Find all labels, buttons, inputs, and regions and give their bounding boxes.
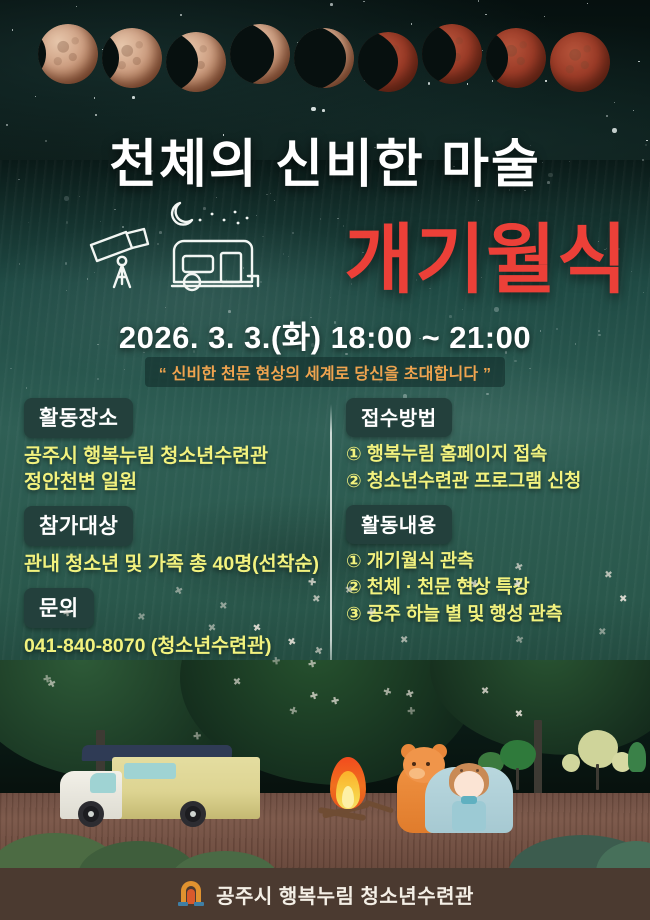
section-body-activity-content: ① 개기월식 관측② 천체 · 천문 현상 특강③ 공주 하늘 별 및 행성 관… [346,549,638,627]
star-dot [337,218,338,219]
star-dot [66,221,69,224]
girl-face [454,771,484,799]
van-cab-window [90,773,116,793]
star-dot [165,307,166,308]
section-line: 정안천변 일원 [24,469,324,495]
crescent-moon-icon [172,203,192,225]
girl-collar [461,796,477,804]
section-heading-participants: 참가대상 [24,506,133,546]
tagline: “ 신비한 천문 현상의 세계로 당신을 초대합니다 ” [145,357,505,387]
bear-eye-left [412,762,416,766]
girl-character [437,759,501,833]
moon-phase-strip [0,10,650,125]
section-body-participants: 관내 청소년 및 가족 총 40명(선착순) [24,551,324,577]
info-column-right: 접수방법① 행복누림 홈페이지 접속② 청소년수련관 프로그램 신청활동내용① … [346,398,638,638]
tree-trunk-right [534,720,542,798]
van-side-window [124,763,176,779]
moon-shadow [38,24,46,84]
section-body-inquiry: 041-840-8070 (청소년수련관) [24,633,324,659]
moon-phase-last-quarter [166,32,226,92]
section-body-activity-place: 공주시 행복누림 청소년수련관정안천변 일원 [24,443,324,495]
moon-phase-waning-crescent-1 [230,24,290,84]
star-dot [587,3,588,4]
star-dot [330,297,331,298]
eclipse-event-poster: 천체의 신비한 마술 개기월식 [0,0,650,920]
camper-trailer-icon [172,241,258,290]
star-dot [28,222,29,223]
section-participants: 참가대상관내 청소년 및 가족 총 40명(선착순) [24,506,324,577]
section-line: ② 청소년수련관 프로그램 신청 [346,469,638,494]
section-heading-activity-place: 활동장소 [24,398,133,438]
girl-dress [452,801,486,831]
flame-core [342,786,354,808]
section-line: 관내 청소년 및 가족 총 40명(선착순) [24,551,324,577]
section-heading-inquiry: 문의 [24,588,94,628]
moon-phase-eclipse-partial [422,24,482,84]
section-heading-activity-content: 활동내용 [346,505,452,544]
star-dot [26,387,27,388]
moon-craters [38,24,98,84]
conifer-1 [628,742,646,772]
star-dot [292,232,293,233]
star-dot [65,262,68,265]
moon-phase-waning-gibbous-1 [38,24,98,84]
moon-phase-total-eclipse [550,32,610,92]
campsite-illustration [0,660,650,885]
moon-phase-waning-crescent-2 [294,28,354,88]
section-inquiry: 문의041-840-8070 (청소년수련관) [24,588,324,659]
decorative-line-icons [88,198,268,294]
van-front-wheel [78,801,104,827]
star-dot [478,0,479,1]
event-datetime: 2026. 3. 3.(화) 18:00 ~ 21:00 [0,312,650,357]
section-line: 041-840-8070 (청소년수련관) [24,633,324,659]
star-dot [66,290,67,291]
section-line: ③ 공주 하늘 별 및 행성 관측 [346,602,638,627]
moon-phase-waning-gibbous-2 [102,28,162,88]
star-dot [631,271,632,272]
bear-eye-right [426,762,430,766]
girl-eye-left [460,769,463,772]
footer-bar: 공주시 행복누림 청소년수련관 [0,868,650,920]
star-dot [320,218,321,219]
star-dot [274,200,275,201]
star-dots-icon [200,212,247,223]
star-dot [76,6,77,7]
section-line: 공주시 행복누림 청소년수련관 [24,443,324,469]
star-dot [283,253,284,254]
section-heading-how-to-apply: 접수방법 [346,398,452,437]
van-rear-wheel [180,801,206,827]
bear-snout [409,768,425,779]
star-dot [643,292,644,293]
section-line: ② 천체 · 천문 현상 특강 [346,575,638,600]
section-activity-content: 활동내용① 개기월식 관측② 천체 · 천문 현상 특강③ 공주 하늘 별 및 … [346,505,638,627]
star-dot [486,393,489,396]
tagline-row: “ 신비한 천문 현상의 세계로 당신을 초대합니다 ” [0,357,650,387]
moon-craters [550,32,610,92]
small-tree-2 [500,740,536,770]
small-tree-trunk-2 [516,768,519,790]
star-dot [330,3,333,6]
star-dot [363,1,364,2]
section-line: ① 행복누림 홈페이지 접속 [346,442,638,467]
campfire [320,755,380,819]
event-title-highlight: 개기월식 [344,198,628,308]
section-body-how-to-apply: ① 행복누림 홈페이지 접속② 청소년수련관 프로그램 신청 [346,442,638,494]
section-how-to-apply: 접수방법① 행복누림 홈페이지 접속② 청소년수련관 프로그램 신청 [346,398,638,494]
camper-van [60,741,260,827]
telescope-icon [91,229,148,287]
star-dot [462,309,463,310]
footer-organization: 공주시 행복누림 청소년수련관 [216,880,474,909]
girl-eye-right [476,769,479,772]
moon-phase-eclipse-deep [486,28,546,88]
moon-phase-eclipse-start [358,32,418,92]
section-line: ① 개기월식 관측 [346,549,638,574]
column-divider [330,404,332,692]
star-dot [288,256,289,257]
star-dot [19,263,20,264]
section-activity-place: 활동장소공주시 행복누림 청소년수련관정안천변 일원 [24,398,324,495]
page-title: 천체의 신비한 마술 [0,122,650,197]
arch-gate-logo-icon [176,878,206,911]
small-tree-5 [562,754,580,772]
small-tree-trunk-3 [596,764,599,790]
